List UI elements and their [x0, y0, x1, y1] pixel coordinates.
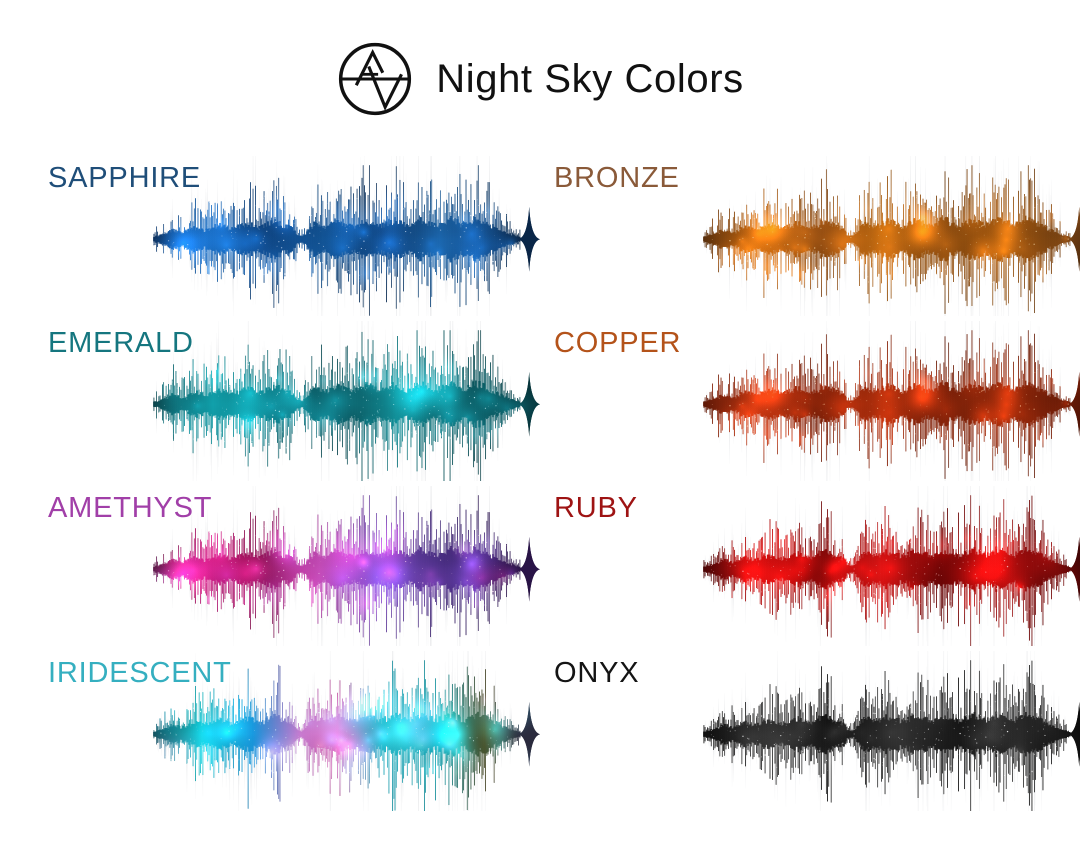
swatch-iridescent[interactable]: IRIDESCENT	[0, 645, 540, 810]
page-title: Night Sky Colors	[436, 59, 743, 99]
swatch-copper[interactable]: COPPER	[540, 315, 1080, 480]
swatch-onyx[interactable]: ONYX	[540, 645, 1080, 810]
waveform-iridescent	[0, 651, 540, 811]
waveform-onyx	[550, 651, 1080, 811]
swatch-ruby[interactable]: RUBY	[540, 480, 1080, 645]
waveform-ruby	[550, 486, 1080, 646]
waveform-bronze	[550, 156, 1080, 316]
waveform-emerald	[0, 321, 540, 481]
swatch-amethyst[interactable]: AMETHYST	[0, 480, 540, 645]
swatch-bronze[interactable]: BRONZE	[540, 150, 1080, 315]
swatch-sapphire[interactable]: SAPPHIRE	[0, 150, 540, 315]
swatch-emerald[interactable]: EMERALD	[0, 315, 540, 480]
brand-logo-wrap	[336, 40, 414, 118]
page-header: Night Sky Colors	[0, 0, 1080, 150]
waveform-sapphire	[0, 156, 540, 316]
color-swatch-grid: SAPPHIRE BRONZE EMERALD COPPER AMETHYST …	[0, 150, 1080, 850]
waveform-copper	[550, 321, 1080, 481]
night-sky-colors-av-monogram-icon	[336, 40, 414, 118]
waveform-amethyst	[0, 486, 540, 646]
